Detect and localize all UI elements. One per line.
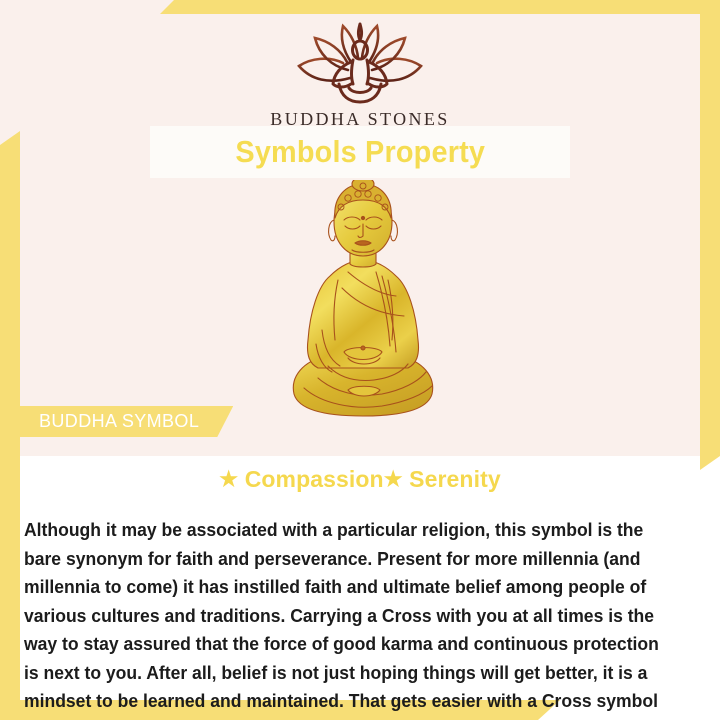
- star-icon-2: ★: [384, 468, 403, 491]
- buddha-symbol-tag: BUDDHA SYMBOL: [13, 406, 233, 437]
- golden-buddha-illustration: [278, 180, 448, 430]
- brand-logo: BUDDHA STONES: [0, 22, 720, 130]
- title-banner: Symbols Property: [150, 126, 570, 178]
- content-headline: ★ Compassion★ Serenity: [0, 466, 720, 493]
- decor-band-top: [160, 0, 720, 14]
- page-title: Symbols Property: [235, 134, 485, 170]
- headline-word-serenity: Serenity: [409, 466, 501, 492]
- buddha-symbol-tag-label: BUDDHA SYMBOL: [39, 411, 199, 432]
- content-paragraph: Although it may be associated with a par…: [24, 516, 672, 720]
- lotus-meditation-logo-icon: [281, 22, 439, 106]
- star-icon-1: ★: [219, 468, 238, 491]
- poster-canvas: BUDDHA STONES Symbols Property: [0, 0, 720, 720]
- headline-word-compassion: Compassion: [245, 466, 384, 492]
